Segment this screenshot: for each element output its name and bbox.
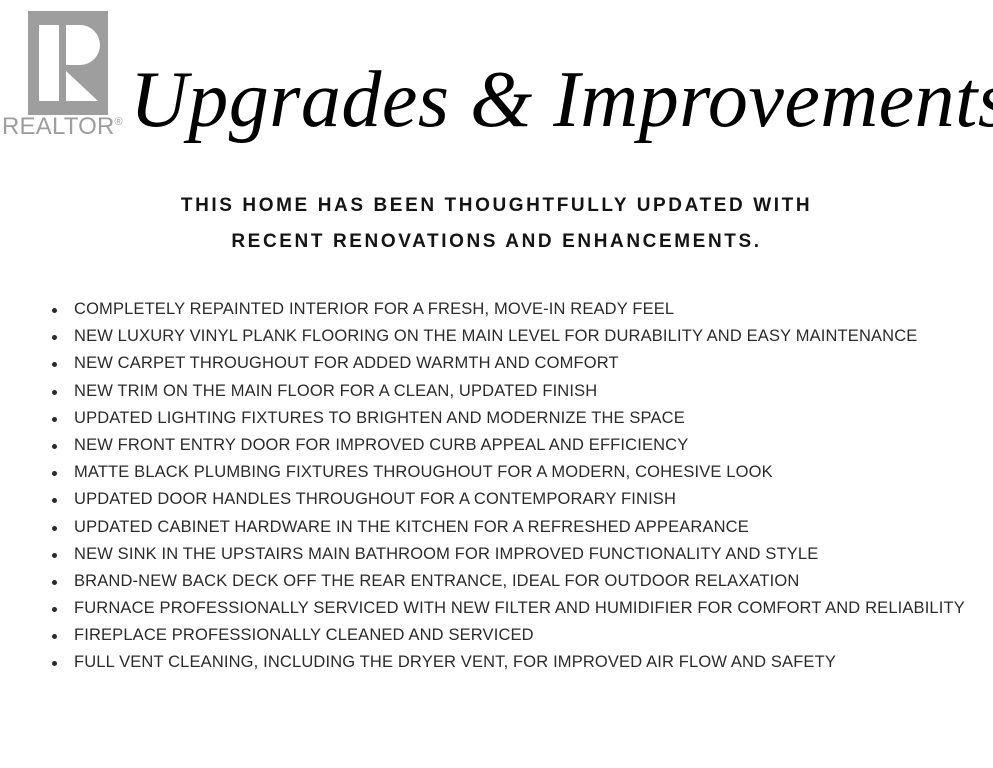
bullet-dot-icon (52, 634, 57, 639)
realtor-r-mark-icon (28, 11, 108, 115)
bullet-dot-icon (52, 526, 57, 531)
upgrade-list-item: NEW SINK IN THE UPSTAIRS MAIN BATHROOM F… (44, 541, 974, 568)
upgrade-list-item-label: BRAND-NEW BACK DECK OFF THE REAR ENTRANC… (74, 572, 799, 590)
bullet-dot-icon (52, 362, 57, 367)
upgrades-list: COMPLETELY REPAINTED INTERIOR FOR A FRES… (44, 296, 974, 677)
upgrade-list-item-label: NEW FRONT ENTRY DOOR FOR IMPROVED CURB A… (74, 436, 688, 454)
upgrade-list-item-label: UPDATED CABINET HARDWARE IN THE KITCHEN … (74, 518, 749, 536)
upgrade-list-item-label: NEW LUXURY VINYL PLANK FLOORING ON THE M… (74, 327, 917, 345)
upgrade-list-item-label: FURNACE PROFESSIONALLY SERVICED WITH NEW… (74, 599, 965, 617)
upgrade-list-item-label: COMPLETELY REPAINTED INTERIOR FOR A FRES… (74, 300, 674, 318)
upgrade-list-item-label: UPDATED DOOR HANDLES THROUGHOUT FOR A CO… (74, 490, 676, 508)
bullet-dot-icon (52, 498, 57, 503)
upgrade-list-item-label: FIREPLACE PROFESSIONALLY CLEANED AND SER… (74, 626, 534, 644)
upgrade-list-item: FULL VENT CLEANING, INCLUDING THE DRYER … (44, 649, 974, 676)
upgrade-list-item-label: NEW SINK IN THE UPSTAIRS MAIN BATHROOM F… (74, 545, 818, 563)
upgrade-list-item: FIREPLACE PROFESSIONALLY CLEANED AND SER… (44, 622, 974, 649)
upgrade-list-item: NEW TRIM ON THE MAIN FLOOR FOR A CLEAN, … (44, 378, 974, 405)
upgrade-list-item: UPDATED LIGHTING FIXTURES TO BRIGHTEN AN… (44, 405, 974, 432)
upgrade-list-item: BRAND-NEW BACK DECK OFF THE REAR ENTRANC… (44, 568, 974, 595)
subtitle-line-2: RECENT RENOVATIONS AND ENHANCEMENTS. (0, 224, 993, 260)
upgrade-list-item: UPDATED CABINET HARDWARE IN THE KITCHEN … (44, 514, 974, 541)
upgrade-list-item: NEW FRONT ENTRY DOOR FOR IMPROVED CURB A… (44, 432, 974, 459)
upgrade-list-item-label: MATTE BLACK PLUMBING FIXTURES THROUGHOUT… (74, 463, 773, 481)
subtitle-line-1: THIS HOME HAS BEEN THOUGHTFULLY UPDATED … (0, 188, 993, 224)
upgrade-list-item-label: FULL VENT CLEANING, INCLUDING THE DRYER … (74, 653, 836, 671)
upgrade-list-item: NEW CARPET THROUGHOUT FOR ADDED WARMTH A… (44, 350, 974, 377)
bullet-dot-icon (52, 607, 57, 612)
bullet-dot-icon (52, 390, 57, 395)
bullet-dot-icon (52, 335, 57, 340)
bullet-dot-icon (52, 308, 57, 313)
bullet-dot-icon (52, 580, 57, 585)
realtor-wordmark: REALTOR® (2, 115, 134, 139)
upgrade-list-item: COMPLETELY REPAINTED INTERIOR FOR A FRES… (44, 296, 974, 323)
realtor-wordmark-text: REALTOR (2, 113, 115, 140)
bullet-dot-icon (52, 553, 57, 558)
upgrade-list-item: UPDATED DOOR HANDLES THROUGHOUT FOR A CO… (44, 486, 974, 513)
bullet-dot-icon (52, 471, 57, 476)
page-subtitle: THIS HOME HAS BEEN THOUGHTFULLY UPDATED … (0, 188, 993, 260)
realtor-logo: REALTOR® (28, 11, 110, 139)
bullet-dot-icon (52, 661, 57, 666)
upgrade-list-item-label: NEW TRIM ON THE MAIN FLOOR FOR A CLEAN, … (74, 382, 597, 400)
bullet-dot-icon (52, 444, 57, 449)
upgrade-list-item: NEW LUXURY VINYL PLANK FLOORING ON THE M… (44, 323, 974, 350)
upgrade-list-item: FURNACE PROFESSIONALLY SERVICED WITH NEW… (44, 595, 974, 622)
upgrade-list-item: MATTE BLACK PLUMBING FIXTURES THROUGHOUT… (44, 459, 974, 486)
bullet-dot-icon (52, 417, 57, 422)
upgrade-list-item-label: UPDATED LIGHTING FIXTURES TO BRIGHTEN AN… (74, 409, 685, 427)
registered-trademark-icon: ® (115, 116, 123, 128)
page-title: Upgrades & Improvements (130, 60, 993, 140)
upgrade-list-item-label: NEW CARPET THROUGHOUT FOR ADDED WARMTH A… (74, 354, 619, 372)
